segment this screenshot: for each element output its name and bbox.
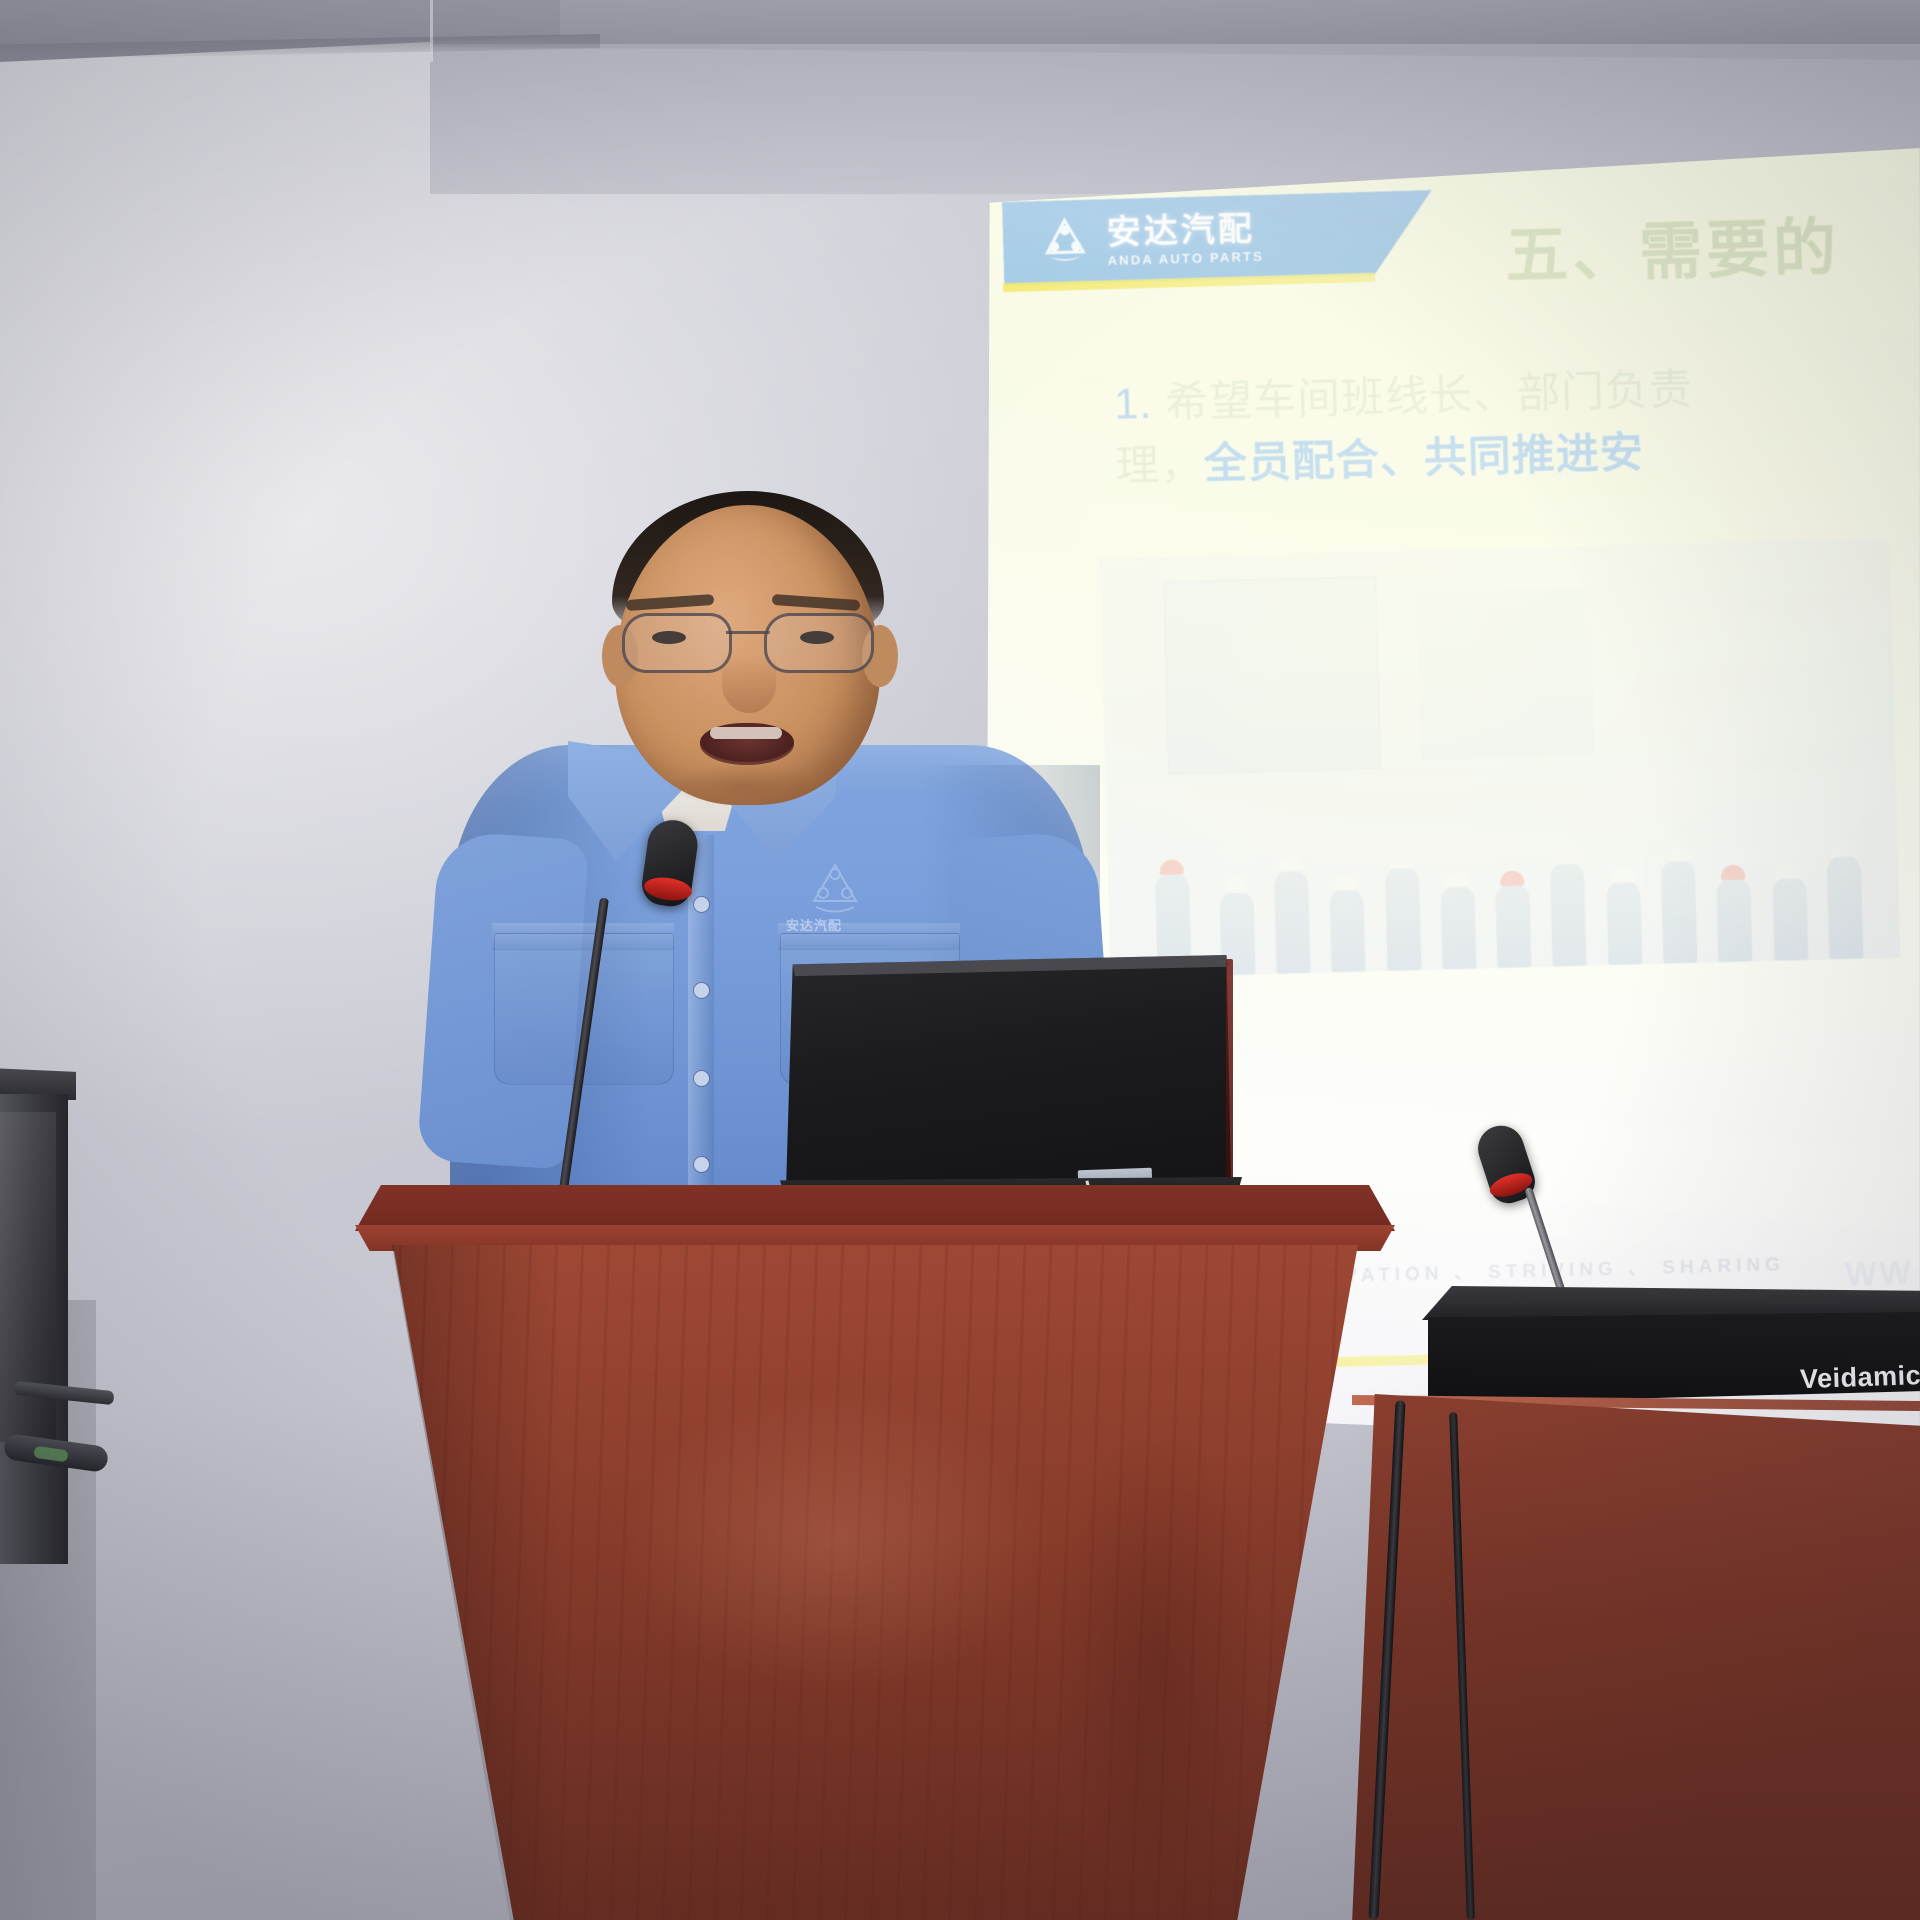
wooden-podium — [355, 1185, 1395, 1920]
rack-brand-label: Veidamic® — [1799, 1360, 1920, 1396]
teeth — [710, 727, 782, 739]
nose — [722, 655, 776, 713]
laptop-lid-edge-right — [1226, 959, 1233, 1187]
rack-wood-body — [1352, 1394, 1920, 1920]
rack-front-face: Veidamic® — [1428, 1312, 1920, 1404]
shirt-embroidered-logo-icon — [798, 857, 872, 919]
photo-banner-left — [1163, 576, 1381, 775]
shirt-button — [694, 983, 709, 998]
podium-top-surface — [355, 1185, 1395, 1231]
photo-crowd — [1106, 781, 1900, 978]
bullet-text: 希望车间班线长、部门负责 — [1165, 366, 1694, 428]
slide-embedded-photo — [1100, 538, 1901, 979]
lens-left — [622, 613, 732, 673]
lens-right — [764, 613, 874, 673]
presentation-scene: 安达汽配 ANDA AUTO PARTS 五、需要的 1. 希望车间班线长、部门… — [0, 0, 1920, 1920]
anda-tri-lobe-logo-icon — [1036, 214, 1094, 272]
shirt-button — [694, 1071, 709, 1086]
chin-shadow — [668, 763, 818, 807]
shirt-logo-text: 安达汽配 — [786, 915, 842, 934]
laptop-lid — [786, 955, 1231, 1190]
audio-equipment-rack: Veidamic® — [1328, 1286, 1920, 1920]
shirt-button — [694, 897, 709, 912]
slide-logo-text: 安达汽配 ANDA AUTO PARTS — [1106, 211, 1264, 266]
bullet-text-continued: 理， — [1115, 441, 1204, 491]
bullet-text-highlight: 全员配合、共同推进安 — [1203, 429, 1644, 489]
laptop[interactable]: ThinkPad — [786, 955, 1231, 1200]
bullet-number: 1. — [1114, 380, 1153, 429]
slide-logo-cn: 安达汽配 — [1106, 211, 1263, 249]
slide-title: 五、需要的 — [1504, 195, 1920, 297]
wall-seam — [430, 0, 433, 62]
slide-logo-band: 安达汽配 ANDA AUTO PARTS — [1002, 190, 1434, 286]
slide-body-text: 1. 希望车间班线长、部门负责 理，全员配合、共同推进安 — [1114, 352, 1920, 498]
podium-shadow — [373, 1245, 563, 1920]
slide-logo-en: ANDA AUTO PARTS — [1107, 249, 1264, 266]
photo-banner-right — [1417, 588, 1595, 760]
left-equipment-stand — [0, 1068, 130, 1628]
shirt-button — [694, 1157, 709, 1172]
